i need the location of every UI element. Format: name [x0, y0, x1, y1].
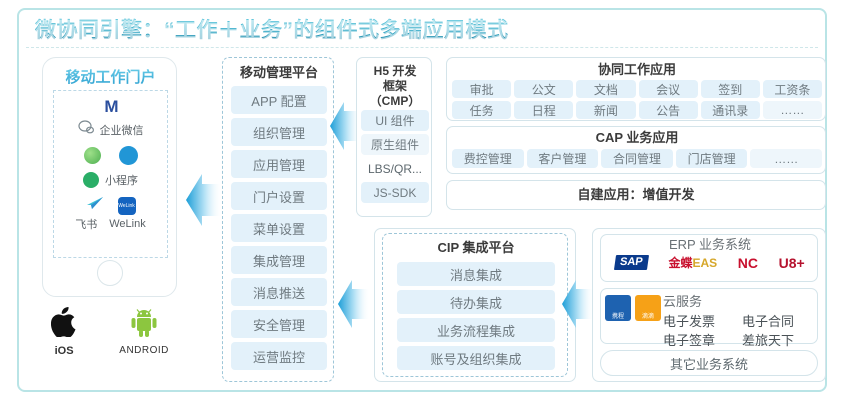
portal-title: 移动工作门户 [43, 66, 178, 87]
arrow-cip-to-mmp [338, 278, 370, 330]
coop-item-meeting[interactable]: 会议 [639, 80, 698, 98]
mmp-item-integration[interactable]: 集成管理 [231, 246, 327, 274]
arrow-to-cip [562, 278, 594, 330]
erp-title: ERP 业务系统 [601, 237, 819, 253]
other-systems-panel[interactable]: 其它业务系统 [600, 350, 818, 376]
h5-title-line3: （CMP） [357, 94, 433, 109]
os-android: ANDROID [119, 307, 169, 357]
coop-item-payslip[interactable]: 工资条 [763, 80, 822, 98]
cloud-title: 云服务 [663, 291, 815, 310]
m-logo-row: M [54, 98, 167, 115]
mmp-item-menu-setting[interactable]: 菜单设置 [231, 214, 327, 242]
coop-item-checkin[interactable]: 签到 [701, 80, 760, 98]
coop-item-approval[interactable]: 审批 [452, 80, 511, 98]
coop-apps-grid: 审批 公文 文档 会议 签到 工资条 任务 日程 新闻 公告 通讯录 …… [452, 80, 822, 119]
h5-item-list: UI 组件 原生组件 LBS/QR... JS-SDK [361, 110, 429, 203]
yonyou-u8-logo[interactable]: U8+ [779, 256, 805, 270]
coop-item-more[interactable]: …… [763, 101, 822, 119]
os-row: iOS ANDROID [30, 307, 190, 357]
coop-item-file[interactable]: 文档 [576, 80, 635, 98]
cloud-text-block: 云服务 电子发票 电子合同 电子签章 差旅天下 [663, 291, 815, 349]
app-row-feishu-welink-labels: 飞书 WeLink [54, 216, 167, 232]
h5-title-line2: 框架 [357, 79, 433, 94]
welink-icon: WeLink [118, 197, 136, 215]
coop-item-contacts[interactable]: 通讯录 [701, 101, 760, 119]
cip-item-todo[interactable]: 待办集成 [397, 290, 555, 314]
erp-panel: ERP 业务系统 SAP 金蝶EAS NC U8+ [600, 234, 818, 282]
cloud-item-einvoice[interactable]: 电子发票 [663, 311, 736, 330]
app-label: 企业微信 [100, 122, 144, 138]
mmp-item-list: APP 配置 组织管理 应用管理 门户设置 菜单设置 集成管理 消息推送 安全管… [231, 86, 327, 370]
cloud-item-grid: 电子发票 电子合同 电子签章 差旅天下 [663, 311, 815, 349]
cap-item-contract[interactable]: 合同管理 [601, 149, 673, 168]
phone-screen: M 企业微信 小程序 [53, 90, 168, 258]
os-ios: iOS [51, 307, 77, 357]
mobile-management-platform: 移动管理平台 APP 配置 组织管理 应用管理 门户设置 菜单设置 集成管理 消… [222, 57, 334, 382]
h5-title-line1: H5 开发 [357, 64, 433, 79]
other-systems-label: 其它业务系统 [670, 354, 748, 373]
cloud-services-panel: 携程 滴滴 云服务 电子发票 电子合同 电子签章 差旅天下 [600, 288, 818, 344]
kingdee-eas-logo[interactable]: 金蝶EAS [668, 257, 717, 269]
mmp-title: 移动管理平台 [223, 65, 335, 81]
feishu-icon [86, 196, 104, 215]
self-built-label: 自建应用：增值开发 [577, 187, 694, 203]
coop-item-task[interactable]: 任务 [452, 101, 511, 119]
mobile-portal-section: 移动工作门户 M 企业微信 小程序 [30, 57, 190, 382]
cip-title: CIP 集成平台 [383, 240, 569, 256]
h5-item-ui-components[interactable]: UI 组件 [361, 110, 429, 131]
diagram-canvas: 微协同引擎：“工作＋业务”的组件式多端应用模式 移动工作门户 M 企业微信 [0, 0, 844, 400]
mmp-item-portal-setting[interactable]: 门户设置 [231, 182, 327, 210]
dingtalk-icon [119, 146, 138, 165]
phone-frame: 移动工作门户 M 企业微信 小程序 [42, 57, 177, 297]
coop-item-document[interactable]: 公文 [514, 80, 573, 98]
app-label: 小程序 [105, 172, 138, 188]
self-built-apps-panel[interactable]: 自建应用：增值开发 [446, 180, 826, 210]
coop-item-notice[interactable]: 公告 [639, 101, 698, 119]
mmp-item-message-push[interactable]: 消息推送 [231, 278, 327, 306]
os-label: ANDROID [119, 345, 169, 356]
cip-item-process[interactable]: 业务流程集成 [397, 318, 555, 342]
h5-item-lbs-qr[interactable]: LBS/QR... [361, 158, 429, 179]
h5-item-js-sdk[interactable]: JS-SDK [361, 182, 429, 203]
cip-item-list: 消息集成 待办集成 业务流程集成 账号及组织集成 [397, 262, 555, 370]
coop-item-news[interactable]: 新闻 [576, 101, 635, 119]
mmp-item-ops-monitor[interactable]: 运营监控 [231, 342, 327, 370]
app-label: WeLink [109, 218, 145, 230]
cloud-logo-row: 携程 滴滴 [605, 295, 661, 321]
cap-item-more[interactable]: …… [750, 149, 822, 168]
h5-item-native-components[interactable]: 原生组件 [361, 134, 429, 155]
coop-apps-title: 协同工作应用 [447, 62, 827, 78]
wechat-icon [84, 147, 101, 164]
m-logo-icon: M [104, 98, 116, 115]
app-row-wechat-dingtalk[interactable] [54, 146, 167, 165]
cap-apps-panel: CAP 业务应用 费控管理 客户管理 合同管理 门店管理 …… [446, 126, 826, 174]
mini-program-icon [83, 172, 99, 188]
enterprise-wechat-icon [78, 120, 94, 139]
mmp-item-security[interactable]: 安全管理 [231, 310, 327, 338]
os-label: iOS [55, 345, 74, 357]
apple-icon [51, 307, 77, 342]
didi-logo[interactable]: 滴滴 [635, 295, 661, 321]
cip-item-account-org[interactable]: 账号及组织集成 [397, 346, 555, 370]
app-row-enterprise-wechat[interactable]: 企业微信 [54, 120, 167, 139]
cap-item-customer[interactable]: 客户管理 [527, 149, 599, 168]
cap-item-store[interactable]: 门店管理 [676, 149, 748, 168]
arrow-to-portal [186, 172, 222, 228]
cloud-item-travel[interactable]: 差旅天下 [742, 330, 815, 349]
erp-logo-row: SAP 金蝶EAS NC U8+ [605, 255, 815, 270]
mmp-item-org-mgmt[interactable]: 组织管理 [231, 118, 327, 146]
h5-framework-panel: H5 开发 框架 （CMP） UI 组件 原生组件 LBS/QR... JS-S… [356, 57, 432, 217]
title-bar: 微协同引擎：“工作＋业务”的组件式多端应用模式 [19, 10, 825, 47]
app-label: 飞书 [75, 216, 97, 232]
yonyou-nc-logo[interactable]: NC [738, 256, 758, 270]
android-icon [129, 307, 159, 342]
h5-title: H5 开发 框架 （CMP） [357, 64, 433, 109]
cap-apps-grid: 费控管理 客户管理 合同管理 门店管理 …… [452, 149, 822, 168]
sap-logo[interactable]: SAP [614, 255, 649, 270]
cap-apps-title: CAP 业务应用 [447, 130, 827, 146]
ctrip-logo[interactable]: 携程 [605, 295, 631, 321]
cip-item-message[interactable]: 消息集成 [397, 262, 555, 286]
app-row-feishu-welink-icons[interactable]: WeLink [54, 196, 167, 215]
cloud-item-esignature[interactable]: 电子签章 [663, 330, 736, 349]
mmp-item-app-config[interactable]: APP 配置 [231, 86, 327, 114]
cloud-item-econtract[interactable]: 电子合同 [742, 311, 815, 330]
title-divider [26, 47, 818, 48]
app-row-mini-program[interactable]: 小程序 [54, 172, 167, 188]
coop-apps-panel: 协同工作应用 审批 公文 文档 会议 签到 工资条 任务 日程 新闻 公告 通讯… [446, 57, 826, 121]
cip-panel: CIP 集成平台 消息集成 待办集成 业务流程集成 账号及组织集成 [382, 233, 568, 377]
mmp-item-app-mgmt[interactable]: 应用管理 [231, 150, 327, 178]
page-title: 微协同引擎：“工作＋业务”的组件式多端应用模式 [35, 14, 509, 44]
coop-item-schedule[interactable]: 日程 [514, 101, 573, 119]
cap-item-expense[interactable]: 费控管理 [452, 149, 524, 168]
home-button[interactable] [97, 260, 123, 286]
